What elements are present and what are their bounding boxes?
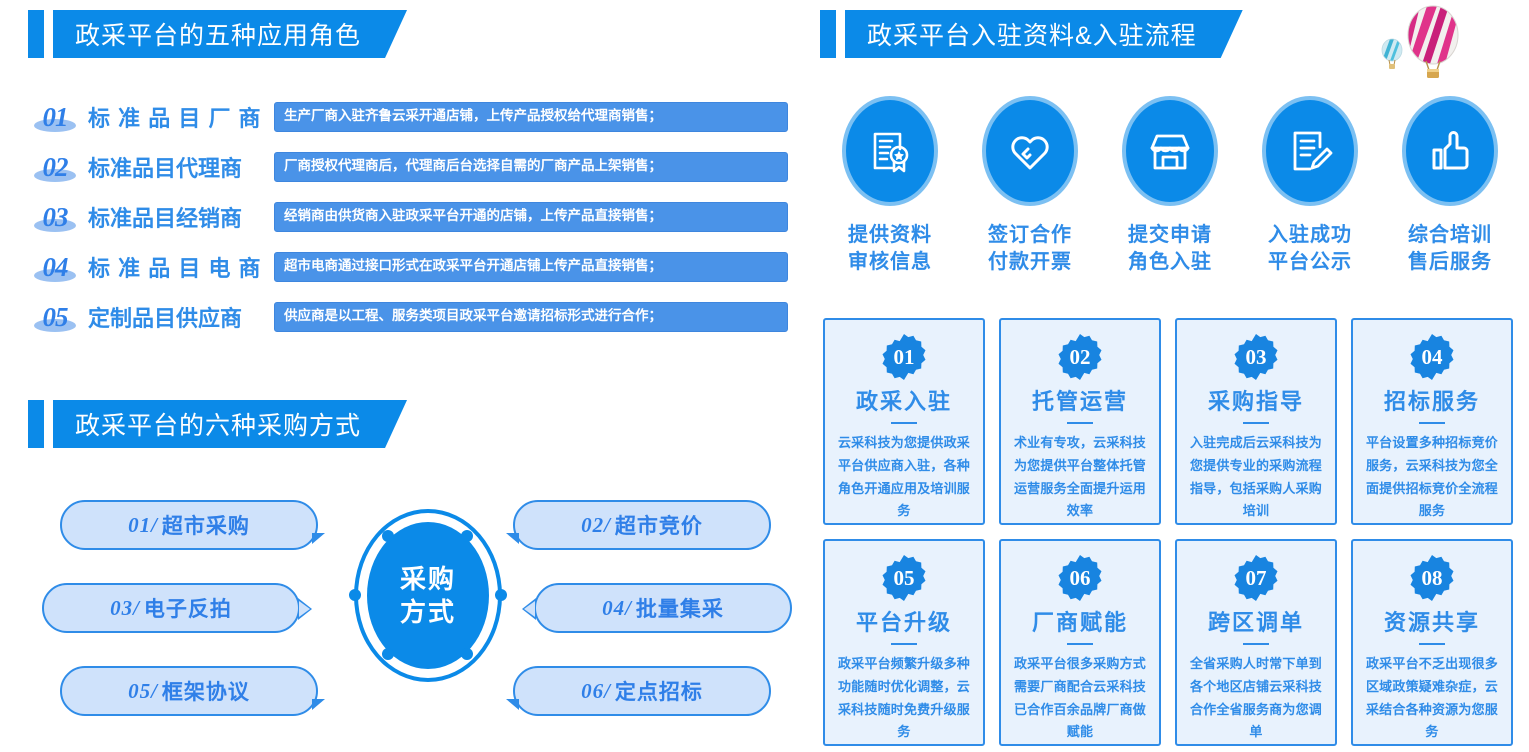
method-pill-03[interactable]: 03/ 电子反拍 [42,583,300,633]
card-divider [1243,643,1269,645]
card-title: 招标服务 [1384,384,1480,416]
role-row: 01 标 准 品 目 厂 商 生产厂商入驻齐鲁云采开通店铺，上传产品授权给代理商… [28,92,788,142]
service-card[interactable]: 02 托管运营 术业有专攻，云采科技为您提供平台整体托管运营服务全面提升运用效率 [999,318,1161,525]
process-step-label: 签订合作 付款开票 [988,222,1072,276]
card-number-badge: 01 [881,334,927,380]
card-title: 托管运营 [1032,384,1128,416]
process-step-line2: 付款开票 [988,249,1072,276]
banner-body: 政采平台入驻资料&入驻流程 [845,10,1243,58]
hub-dot [349,589,361,601]
card-body: 术业有专攻，云采科技为您提供平台整体托管运营服务全面提升运用效率 [1001,432,1159,523]
card-title: 采购指导 [1208,384,1304,416]
process-step-label: 提供资料 审核信息 [848,222,932,276]
method-index: 04/ [602,596,632,621]
banner-accent-bar [820,10,836,58]
card-title: 跨区调单 [1208,605,1304,637]
card-body: 云采科技为您提供政采平台供应商入驻，各种角色开通应用及培训服务 [825,432,983,523]
card-divider [1419,643,1445,645]
service-card[interactable]: 07 跨区调单 全省采购人时常下单到各个地区店铺云采科技合作全省服务商为您调单 [1175,539,1337,746]
process-step-5[interactable]: 综合培训 售后服务 [1380,96,1520,276]
certificate-icon [842,96,938,206]
thumbs-up-icon [1402,96,1498,206]
process-step-line2: 审核信息 [848,249,932,276]
process-step-label: 入驻成功 平台公示 [1268,222,1352,276]
banner-accent-bar [28,10,44,58]
method-index: 05/ [128,679,158,704]
card-number: 03 [1246,345,1267,370]
hub-dot [461,530,473,542]
process-step-line2: 售后服务 [1408,249,1492,276]
role-name: 定制品目供应商 [82,301,274,333]
methods-section-title: 政采平台的六种采购方式 [75,406,361,442]
role-description: 超市电商通过接口形式在政采平台开通店铺上传产品直接销售； [274,252,788,281]
card-body: 政采平台很多采购方式需要厂商配合云采科技已合作百余品牌厂商做赋能 [1001,653,1159,744]
role-row: 05 定制品目供应商 供应商是以工程、服务类项目政采平台邀请招标形式进行合作； [28,292,788,342]
card-number: 02 [1070,345,1091,370]
method-pill-01[interactable]: 01/ 超市采购 [60,500,318,550]
roles-section-banner: 政采平台的五种应用角色 [28,10,407,58]
card-number-badge: 04 [1409,334,1455,380]
hub-line-2: 方式 [400,596,456,629]
process-step-3[interactable]: 提交申请 角色入驻 [1100,96,1240,276]
method-label: 电子反拍 [144,593,232,623]
role-name: 标 准 品 目 电 商 [82,251,274,283]
process-step-line1: 提交申请 [1128,222,1212,249]
service-card[interactable]: 05 平台升级 政采平台频繁升级多种功能随时优化调整，云采科技随时免费升级服务 [823,539,985,746]
process-step-line1: 入驻成功 [1268,222,1352,249]
document-edit-icon [1262,96,1358,206]
pill-pointer [506,699,519,710]
pill-pointer [522,598,536,620]
pill-pointer [312,533,325,544]
role-number-text: 02 [43,152,68,183]
methods-hub: 采购 方式 [353,508,503,683]
role-description: 经销商由供货商入驻政采平台开通的店铺，上传产品直接销售； [274,202,788,231]
hot-air-balloon-icon [1375,4,1471,80]
method-index: 02/ [581,513,611,538]
pill-pointer [506,533,519,544]
hub-dot [461,648,473,660]
card-number-badge: 03 [1233,334,1279,380]
role-name: 标准品目代理商 [82,151,274,183]
role-description: 厂商授权代理商后，代理商后台选择自需的厂商产品上架销售； [274,152,788,181]
card-title: 政采入驻 [856,384,952,416]
service-card[interactable]: 06 厂商赋能 政采平台很多采购方式需要厂商配合云采科技已合作百余品牌厂商做赋能 [999,539,1161,746]
pill-pointer [312,699,325,710]
card-number-badge: 05 [881,555,927,601]
process-step-line1: 提供资料 [848,222,932,249]
banner-body: 政采平台的五种应用角色 [53,10,407,58]
method-label: 超市竞价 [615,510,703,540]
method-pill-05[interactable]: 05/ 框架协议 [60,666,318,716]
process-step-1[interactable]: 提供资料 审核信息 [820,96,960,276]
role-description: 供应商是以工程、服务类项目政采平台邀请招标形式进行合作； [274,302,788,331]
role-number-badge: 03 [28,202,82,233]
process-step-line1: 综合培训 [1408,222,1492,249]
hub-dot [382,648,394,660]
card-number: 06 [1070,566,1091,591]
card-number: 08 [1422,566,1443,591]
onboarding-section-title: 政采平台入驻资料&入驻流程 [867,16,1197,52]
role-description: 生产厂商入驻齐鲁云采开通店铺，上传产品授权给代理商销售； [274,102,788,131]
role-number-text: 03 [43,202,68,233]
card-number-badge: 08 [1409,555,1455,601]
process-step-line2: 角色入驻 [1128,249,1212,276]
card-divider [1419,422,1445,424]
hub-dot [382,530,394,542]
roles-section-title: 政采平台的五种应用角色 [75,16,361,52]
card-title: 厂商赋能 [1032,605,1128,637]
role-name: 标 准 品 目 厂 商 [82,101,274,133]
purchase-methods-diagram: 01/ 超市采购 02/ 超市竞价 03/ 电子反拍 04/ 批量集采 05/ … [28,470,798,730]
card-body: 入驻完成后云采科技为您提供专业的采购流程指导，包括采购人采购培训 [1177,432,1335,523]
card-number: 04 [1422,345,1443,370]
method-label: 超市采购 [162,510,250,540]
service-card[interactable]: 08 资源共享 政采平台不乏出现很多区域政策疑难杂症，云采结合各种资源为您服务 [1351,539,1513,746]
card-number-badge: 06 [1057,555,1103,601]
onboarding-section-banner: 政采平台入驻资料&入驻流程 [820,10,1243,58]
card-number: 07 [1246,566,1267,591]
hub-core: 采购 方式 [367,522,489,669]
role-row: 02 标准品目代理商 厂商授权代理商后，代理商后台选择自需的厂商产品上架销售； [28,142,788,192]
role-number-text: 05 [43,302,68,333]
store-icon [1122,96,1218,206]
roles-list: 01 标 准 品 目 厂 商 生产厂商入驻齐鲁云采开通店铺，上传产品授权给代理商… [28,92,788,342]
card-body: 全省采购人时常下单到各个地区店铺云采科技合作全省服务商为您调单 [1177,653,1335,744]
card-number: 05 [894,566,915,591]
role-number-badge: 01 [28,102,82,133]
role-name: 标准品目经销商 [82,201,274,233]
process-step-line1: 签订合作 [988,222,1072,249]
card-divider [1067,643,1093,645]
card-number: 01 [894,345,915,370]
process-step-label: 提交申请 角色入驻 [1128,222,1212,276]
handshake-heart-icon [982,96,1078,206]
card-number-badge: 07 [1233,555,1279,601]
service-card[interactable]: 01 政采入驻 云采科技为您提供政采平台供应商入驻，各种角色开通应用及培训服务 [823,318,985,525]
method-label: 批量集采 [636,593,724,623]
role-number-text: 04 [43,252,68,283]
card-body: 平台设置多种招标竞价服务，云采科技为您全面提供招标竞价全流程服务 [1353,432,1511,523]
role-number-badge: 04 [28,252,82,283]
role-number-text: 01 [43,102,68,133]
role-number-badge: 05 [28,302,82,333]
pill-pointer [298,598,312,620]
banner-accent-bar [28,400,44,448]
service-cards-grid: 01 政采入驻 云采科技为您提供政采平台供应商入驻，各种角色开通应用及培训服务 … [823,318,1513,746]
method-label: 定点招标 [615,676,703,706]
card-body: 政采平台频繁升级多种功能随时优化调整，云采科技随时免费升级服务 [825,653,983,744]
method-index: 01/ [128,513,158,538]
process-step-label: 综合培训 售后服务 [1408,222,1492,276]
card-divider [1243,422,1269,424]
hub-dot [495,589,507,601]
card-body: 政采平台不乏出现很多区域政策疑难杂症，云采结合各种资源为您服务 [1353,653,1511,744]
methods-section-banner: 政采平台的六种采购方式 [28,400,407,448]
method-pill-04[interactable]: 04/ 批量集采 [534,583,792,633]
role-row: 03 标准品目经销商 经销商由供货商入驻政采平台开通的店铺，上传产品直接销售； [28,192,788,242]
method-pill-06[interactable]: 06/ 定点招标 [513,666,771,716]
method-label: 框架协议 [162,676,250,706]
process-step-4[interactable]: 入驻成功 平台公示 [1240,96,1380,276]
method-index: 06/ [581,679,611,704]
onboarding-process-steps: 提供资料 审核信息 签订合作 付款开票 [820,96,1520,276]
process-step-2[interactable]: 签订合作 付款开票 [960,96,1100,276]
card-divider [891,422,917,424]
role-number-badge: 02 [28,152,82,183]
card-number-badge: 02 [1057,334,1103,380]
infographic-page: 政采平台的五种应用角色 01 标 准 品 目 厂 商 生产厂商入驻齐鲁云采开通店… [0,0,1529,752]
service-card[interactable]: 03 采购指导 入驻完成后云采科技为您提供专业的采购流程指导，包括采购人采购培训 [1175,318,1337,525]
process-step-line2: 平台公示 [1268,249,1352,276]
service-card[interactable]: 04 招标服务 平台设置多种招标竞价服务，云采科技为您全面提供招标竞价全流程服务 [1351,318,1513,525]
hub-line-1: 采购 [400,563,456,596]
card-divider [1067,422,1093,424]
method-index: 03/ [110,596,140,621]
banner-body: 政采平台的六种采购方式 [53,400,407,448]
card-title: 平台升级 [856,605,952,637]
card-divider [891,643,917,645]
method-pill-02[interactable]: 02/ 超市竞价 [513,500,771,550]
role-row: 04 标 准 品 目 电 商 超市电商通过接口形式在政采平台开通店铺上传产品直接… [28,242,788,292]
card-title: 资源共享 [1384,605,1480,637]
